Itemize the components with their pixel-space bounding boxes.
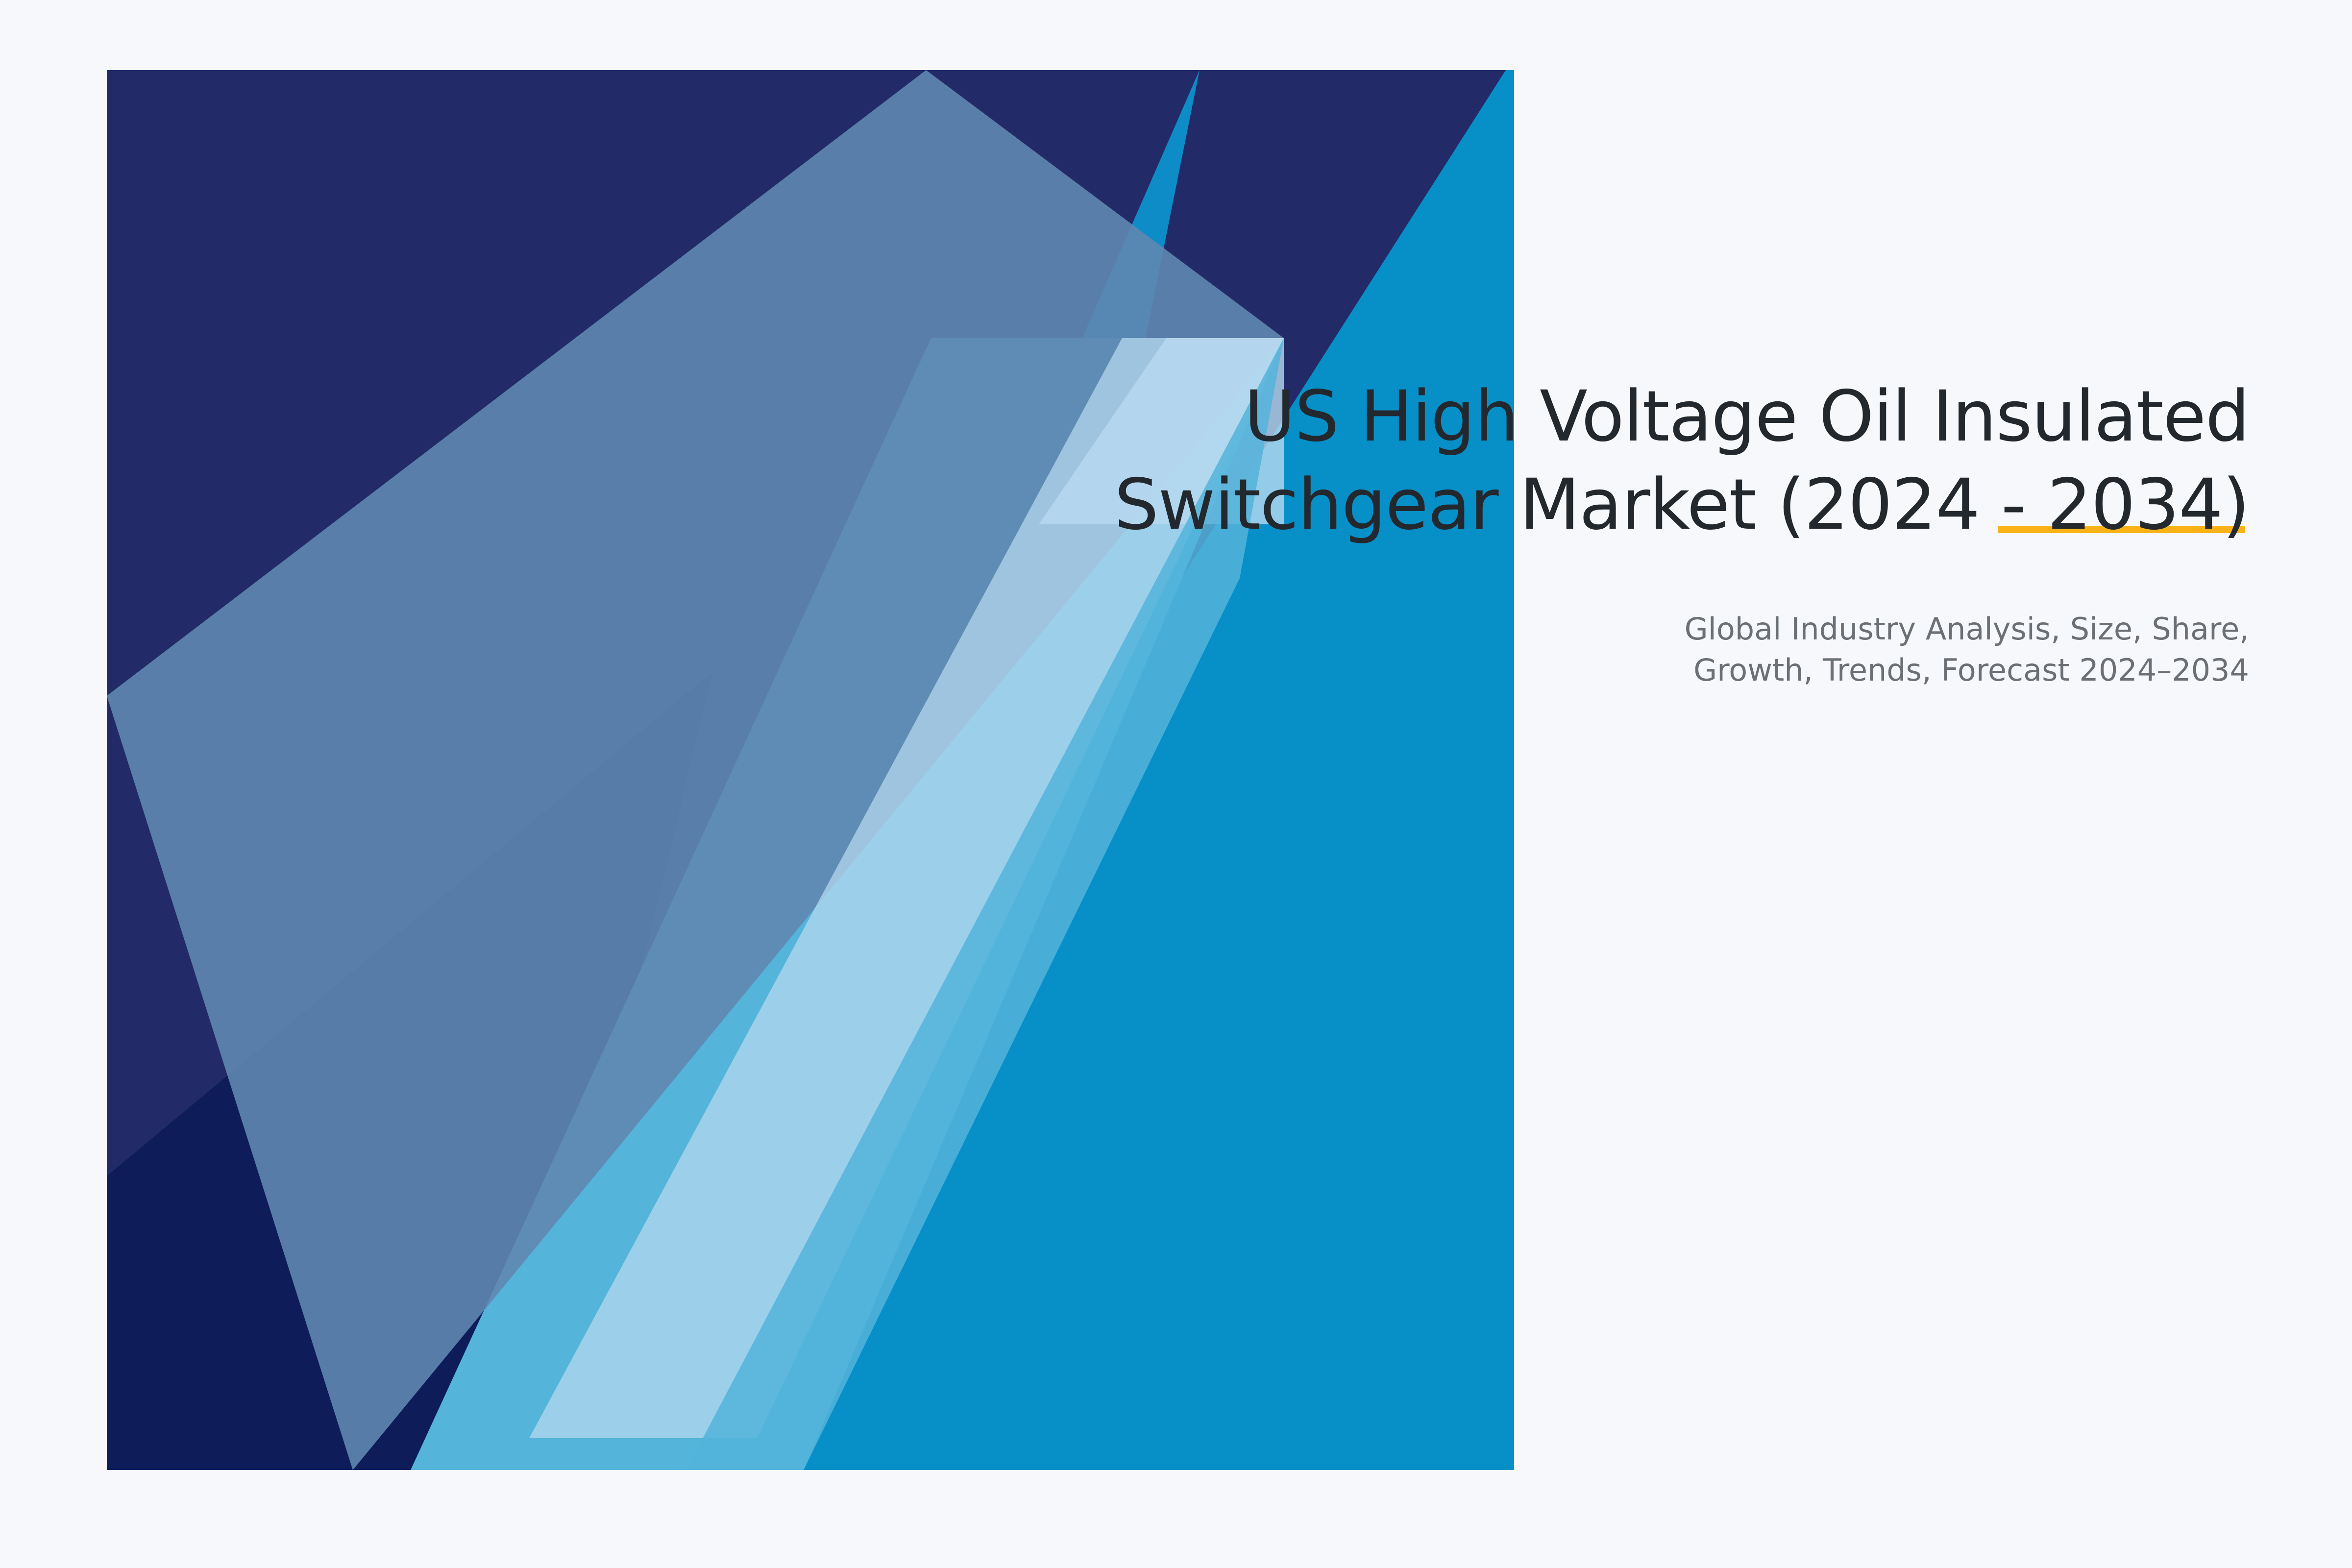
shape-navy-sweep: [107, 70, 1506, 1470]
report-title-line-1: US High Voltage Oil Insulated: [1244, 375, 2249, 457]
shape-deep-navy-wedge: [107, 671, 713, 1470]
report-subtitle-line-2: Growth, Trends, Forecast 2024–2034: [1693, 652, 2249, 688]
cover-text-block: US High Voltage Oil InsulatedSwitchgear …: [1044, 372, 2249, 691]
shape-sky-blue-band: [411, 338, 1122, 1470]
report-cover-page: US High Voltage Oil InsulatedSwitchgear …: [0, 0, 2352, 1568]
abstract-polygon-graphic: [0, 0, 2352, 1568]
shape-slate-overlay: [107, 70, 1284, 1470]
report-title: US High Voltage Oil InsulatedSwitchgear …: [1044, 372, 2249, 549]
title-wrap: US High Voltage Oil InsulatedSwitchgear …: [1044, 372, 2249, 549]
report-subtitle-line-1: Global Industry Analysis, Size, Share,: [1685, 611, 2249, 647]
report-title-line-2: Switchgear Market (2024 - 2034): [1114, 464, 2249, 545]
shape-azure-base: [107, 70, 1514, 1470]
report-subtitle: Global Industry Analysis, Size, Share,Gr…: [1622, 609, 2249, 690]
